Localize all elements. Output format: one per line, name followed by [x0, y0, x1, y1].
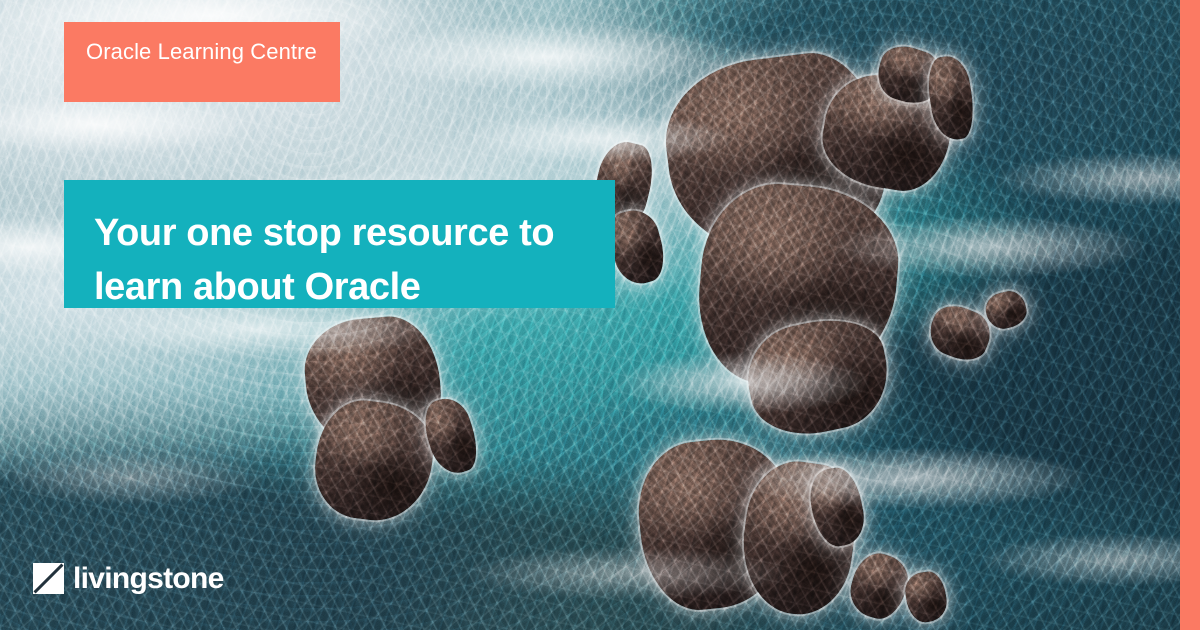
eyebrow-label-text: Oracle Learning Centre	[86, 39, 317, 64]
share-card-canvas: Oracle Learning Centre Your one stop res…	[0, 0, 1200, 630]
headline-text: Your one stop resource to learn about Or…	[94, 212, 554, 308]
eyebrow-label: Oracle Learning Centre	[64, 22, 340, 102]
livingstone-logo[interactable]: livingstone	[33, 563, 224, 594]
logo-wordmark: livingstone	[73, 564, 224, 594]
right-edge-accent-stripe	[1180, 0, 1200, 630]
headline-band: Your one stop resource to learn about Or…	[64, 180, 615, 308]
diagonal-square-icon	[33, 563, 64, 594]
